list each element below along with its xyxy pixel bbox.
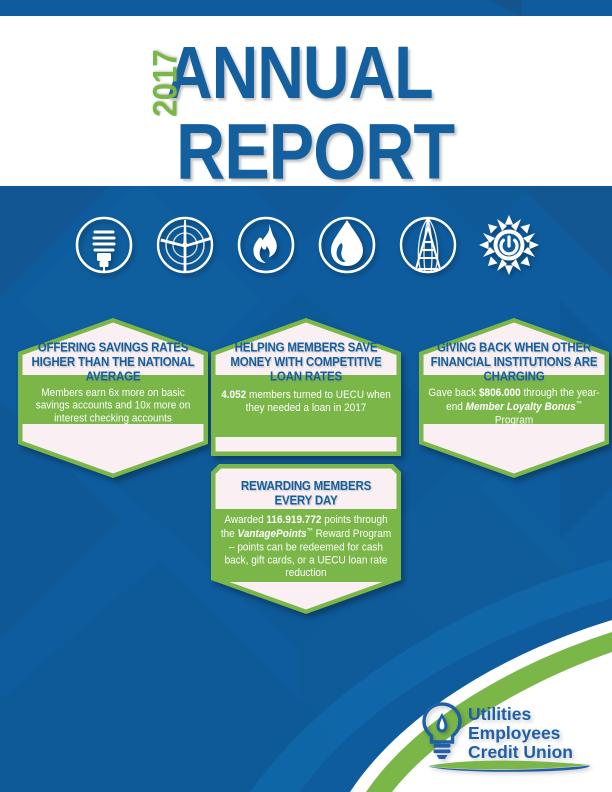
- logo-line-3: Credit Union: [468, 742, 573, 762]
- logo-bulb-icon: [424, 704, 460, 759]
- card-heading: REWARDING MEMBERS EVERY DAY: [211, 464, 401, 509]
- card-heading: GIVING BACK WHEN OTHER FINANCIAL INSTITU…: [419, 318, 609, 385]
- uecu-logo[interactable]: Utilities Employees Credit Union: [418, 698, 594, 772]
- card-body: Members earn 6x more on basic savings ac…: [18, 378, 208, 426]
- stat-card-competitive-loan-rates[interactable]: HELPING MEMBERS SAVE MONEY WITH COMPETIT…: [211, 318, 401, 460]
- card-body: 4.052 members turned to UECU when they n…: [211, 378, 401, 415]
- stat-card-savings-rates[interactable]: OFFERING SAVINGS RATES HIGHER THAN THE N…: [18, 318, 208, 478]
- card-body: Gave back $806.000 through the year-end …: [419, 378, 609, 428]
- logo-line-1: Utilities: [468, 704, 531, 724]
- stat-card-group: OFFERING SAVINGS RATES HIGHER THAN THE N…: [0, 0, 612, 792]
- annual-report-cover: ANNUAL 2017 REPORT: [0, 0, 612, 792]
- stat-card-giving-back[interactable]: GIVING BACK WHEN OTHER FINANCIAL INSTITU…: [419, 318, 609, 478]
- card-body: Awarded 116.919.772 points through the V…: [211, 504, 401, 581]
- card-heading: HELPING MEMBERS SAVE MONEY WITH COMPETIT…: [211, 318, 401, 385]
- card-heading: OFFERING SAVINGS RATES HIGHER THAN THE N…: [18, 318, 208, 385]
- stat-card-rewarding-members[interactable]: REWARDING MEMBERS EVERY DAY Awarded 116.…: [211, 464, 401, 614]
- logo-line-2: Employees: [468, 723, 561, 743]
